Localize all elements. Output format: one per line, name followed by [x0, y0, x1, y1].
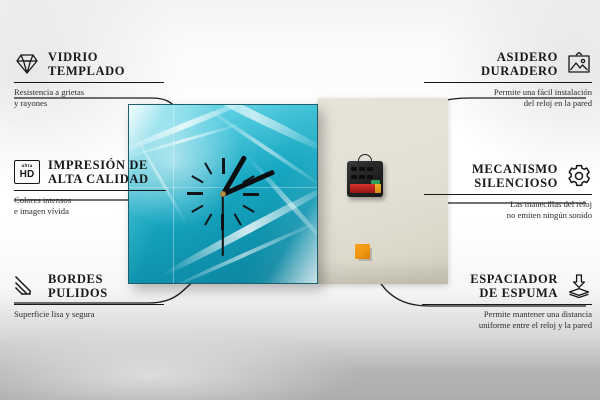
divider [14, 190, 166, 191]
divider [14, 304, 164, 305]
feature-description: Las manecillas del reloj no emiten ningú… [424, 199, 592, 219]
feature-mecanismo-silencioso: MECANISMO SILENCIOSO Las manecillas del … [424, 162, 592, 220]
feature-title: IMPRESIÓN DE ALTA CALIDAD [48, 158, 149, 186]
feature-description: Permite mantener una distancia uniforme … [422, 309, 592, 329]
feature-description: Superficie lisa y segura [14, 309, 164, 319]
feature-impresion-alta-calidad: ultra HD IMPRESIÓN DE ALTA CALIDAD Color… [14, 158, 166, 216]
feature-description: Permite una fácil instalación del reloj … [424, 87, 592, 107]
ultra-hd-icon: ultra HD [14, 160, 40, 184]
feature-title: MECANISMO SILENCIOSO [472, 162, 558, 190]
feature-title: ESPACIADOR DE ESPUMA [470, 272, 558, 300]
feature-title: BORDES PULIDOS [48, 272, 108, 300]
feature-bordes-pulidos: BORDES PULIDOS Superficie lisa y segura [14, 272, 164, 320]
divider [422, 304, 592, 305]
gear-icon [566, 163, 592, 189]
second-hand [222, 194, 224, 256]
center-pin [220, 191, 226, 197]
feature-description: Colores intensos e imagen vívida [14, 195, 166, 215]
feature-espaciador-de-espuma: ESPACIADOR DE ESPUMA Permite mantener un… [422, 272, 592, 330]
divider [424, 194, 592, 195]
press-down-layers-icon [566, 273, 592, 299]
feature-vidrio-templado: VIDRIO TEMPLADO Resistencia a grietas y … [14, 50, 164, 108]
battery [350, 184, 380, 193]
ultra-hd-main-label: HD [20, 170, 35, 180]
polished-edges-icon [14, 273, 40, 299]
infographic-stage: VIDRIO TEMPLADO Resistencia a grietas y … [0, 0, 600, 400]
feature-description: Resistencia a grietas y rayones [14, 87, 164, 107]
picture-frame-hanger-icon [566, 51, 592, 77]
feature-title: ASIDERO DURADERO [481, 50, 558, 78]
clock-mechanism [347, 161, 383, 197]
diamond-icon [14, 51, 40, 77]
foam-spacer [355, 244, 370, 259]
divider [14, 82, 164, 83]
mechanism-slots [351, 166, 379, 180]
feature-title: VIDRIO TEMPLADO [48, 50, 125, 78]
feature-asidero-duradero: ASIDERO DURADERO Permite una fácil insta… [424, 50, 592, 108]
mechanism-hook [358, 154, 372, 163]
divider [424, 82, 592, 83]
